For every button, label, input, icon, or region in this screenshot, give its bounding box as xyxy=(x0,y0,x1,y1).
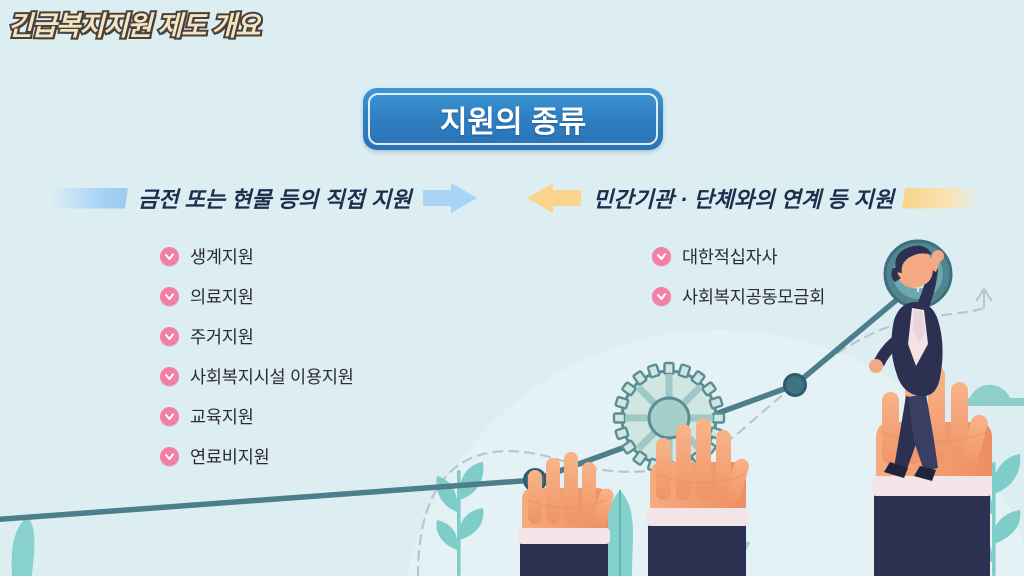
check-circle-icon xyxy=(160,287,179,306)
check-circle-icon xyxy=(160,407,179,426)
background-blob xyxy=(400,330,1024,576)
page-title: 지원의 종류 xyxy=(440,97,586,141)
page-tag: 긴급복지지원 제도 개요 xyxy=(8,4,259,43)
dollar-coin-icon: $ xyxy=(885,241,951,307)
svg-text:$: $ xyxy=(907,256,928,298)
support-list-right: 대한적십자사 사회복지공동모금회 xyxy=(652,236,825,316)
check-circle-icon xyxy=(652,287,671,306)
check-circle-icon xyxy=(652,247,671,266)
list-item: 사회복지시설 이용지원 xyxy=(160,356,354,396)
section-heading-right: 민간기관 · 단체와의 연계 등 지원 xyxy=(527,181,980,215)
list-item-label: 생계지원 xyxy=(190,244,254,269)
list-item: 연료비지원 xyxy=(160,436,354,476)
list-item-label: 교육지원 xyxy=(190,404,254,429)
section-heading-left-label: 금전 또는 현물 등의 직접 지원 xyxy=(138,182,411,214)
section-heading-right-label: 민간기관 · 단체와의 연계 등 지원 xyxy=(593,182,894,214)
list-item: 대한적십자사 xyxy=(652,236,825,276)
list-item-label: 의료지원 xyxy=(190,284,254,309)
list-item: 사회복지공동모금회 xyxy=(652,276,825,316)
list-item-label: 주거지원 xyxy=(190,324,254,349)
list-item: 주거지원 xyxy=(160,316,354,356)
infographic-canvas: $ xyxy=(0,0,1024,576)
list-item-label: 사회복지공동모금회 xyxy=(682,284,825,309)
list-item-label: 사회복지시설 이용지원 xyxy=(190,364,354,389)
accent-bar-yellow-icon xyxy=(902,188,980,209)
list-item: 교육지원 xyxy=(160,396,354,436)
check-circle-icon xyxy=(160,367,179,386)
support-list-left: 생계지원 의료지원 주거지원 사회복지시설 이용지원 교육지원 xyxy=(160,236,354,476)
check-circle-icon xyxy=(160,327,179,346)
arrow-right-icon xyxy=(423,183,477,213)
check-circle-icon xyxy=(160,447,179,466)
list-item-label: 연료비지원 xyxy=(190,444,270,469)
section-heading-left: 금전 또는 현물 등의 직접 지원 xyxy=(50,181,477,215)
cloud-shape xyxy=(968,385,1024,406)
arrow-left-icon xyxy=(527,183,581,213)
title-banner: 지원의 종류 xyxy=(363,88,663,150)
check-circle-icon xyxy=(160,247,179,266)
list-item: 의료지원 xyxy=(160,276,354,316)
list-item-label: 대한적십자사 xyxy=(682,244,777,269)
plant-leaf-bottom-left xyxy=(12,516,35,576)
list-item: 생계지원 xyxy=(160,236,354,276)
accent-bar-blue-icon xyxy=(50,188,128,209)
